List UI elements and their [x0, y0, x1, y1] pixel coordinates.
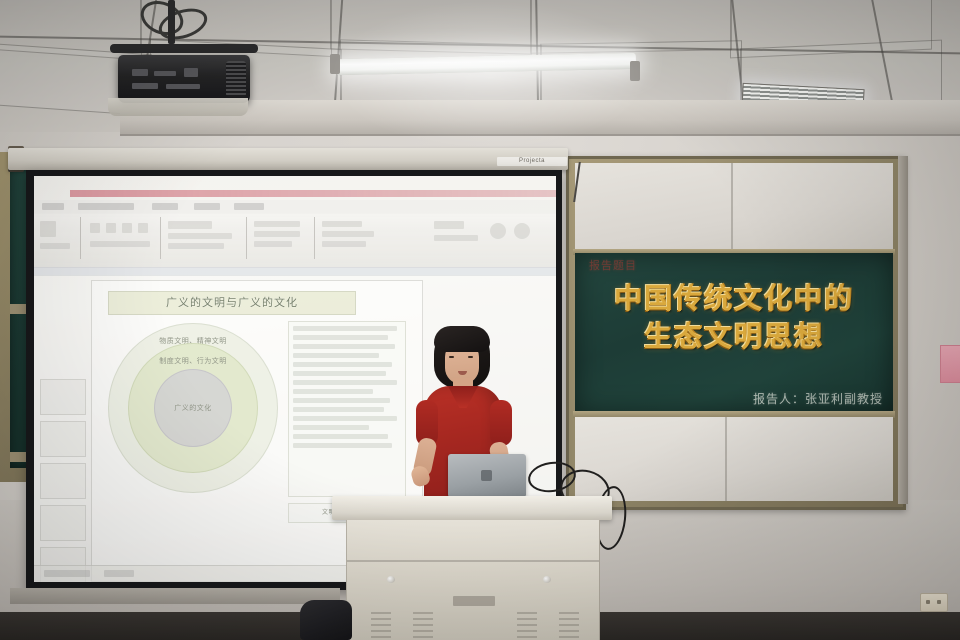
slide-text-panel: [288, 321, 406, 497]
blackboard-top-note: 报告题目: [589, 257, 637, 273]
laptop[interactable]: [448, 454, 526, 496]
lectern-nameplate: [453, 596, 495, 606]
lectern-knob[interactable]: [387, 576, 395, 583]
screen-bottom-ledge: [10, 588, 340, 604]
slide-thumbnail-strip[interactable]: [40, 379, 84, 522]
presenter-right-sleeve: [490, 400, 512, 446]
ceiling-projector: [118, 55, 250, 103]
slide-thumbnail[interactable]: [40, 505, 86, 541]
lectern-vent: [517, 612, 537, 640]
wall-edge-pipe: [898, 156, 908, 504]
screen-brand-label: Projecta: [497, 157, 567, 166]
slide-thumbnail[interactable]: [40, 379, 86, 415]
floor-bag: [300, 600, 352, 640]
lectern-knob[interactable]: [543, 576, 551, 583]
diagram-ring-inner: 广义的文化: [154, 369, 232, 447]
projector-lens-housing: [108, 98, 248, 116]
blackboard-title-line-2: 生态文明思想: [575, 315, 893, 355]
lectern-vent: [559, 612, 579, 640]
power-outlet[interactable]: [920, 593, 948, 612]
projector-mount-pole: [168, 0, 175, 44]
diagram-ring-middle-label: 制度文明、行为文明: [129, 356, 257, 366]
projector-vent: [226, 61, 246, 97]
lectern: [332, 496, 612, 640]
blackboard-signature: 报告人：张亚利副教授: [753, 390, 883, 407]
app-title-bar: [70, 190, 556, 197]
lectern-body: [346, 520, 600, 640]
lectern-panel-seam: [347, 560, 599, 562]
lecture-hall-photo: 报告题目 中国传统文化中的 生态文明思想 报告人：张亚利副教授 Projecta: [0, 0, 960, 640]
lectern-vent: [413, 612, 433, 640]
slide-thumbnail[interactable]: [40, 421, 86, 457]
wall-notice-sign: [940, 345, 960, 383]
projector-mount-bar: [110, 44, 258, 53]
app-menu-bar: [34, 200, 556, 214]
lectern-vent: [371, 612, 391, 640]
blackboard-assembly: 报告题目 中国传统文化中的 生态文明思想 报告人：张亚利副教授: [566, 156, 906, 510]
app-ribbon-toolbar: [34, 213, 556, 268]
slide-title: 广义的文明与广义的文化: [108, 291, 356, 315]
presenter-fringe: [434, 326, 490, 352]
laptop-logo: [481, 470, 492, 481]
lectern-top-surface: [332, 496, 612, 520]
blackboard-title-line-1: 中国传统文化中的: [575, 277, 893, 317]
diagram-ring-inner-label: 广义的文化: [155, 403, 231, 413]
slide-thumbnail[interactable]: [40, 463, 86, 499]
blackboard-surface: 报告题目 中国传统文化中的 生态文明思想 报告人：张亚利副教授: [575, 253, 893, 413]
projection-screen-roller: [8, 148, 568, 170]
